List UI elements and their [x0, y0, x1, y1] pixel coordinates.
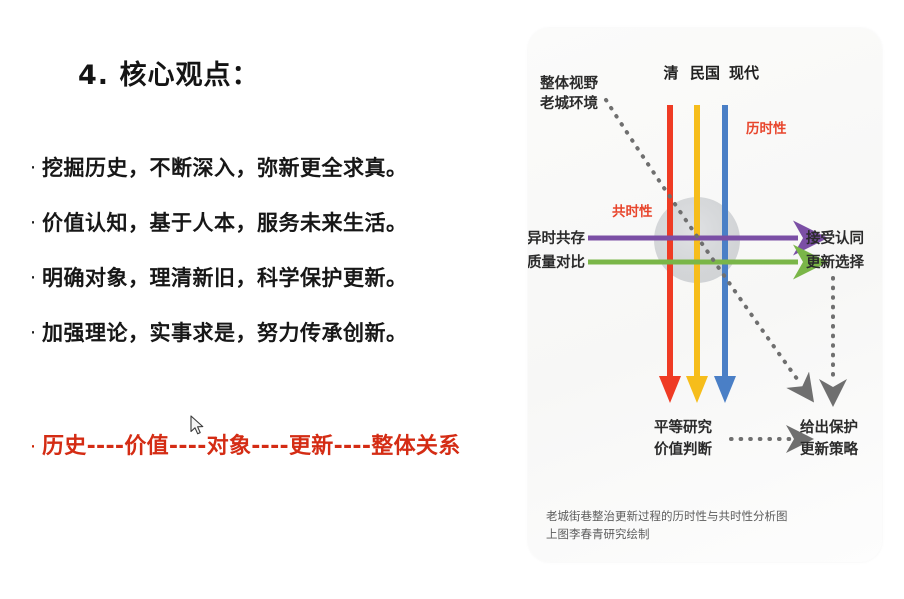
list-item-label: 挖掘历史，不断深入，弥新更全求真。 [42, 153, 408, 183]
era-label-qing: 清 [663, 64, 678, 82]
timeline-arrowhead-qing [659, 376, 681, 403]
list-item: · 挖掘历史，不断深入，弥新更全求真。 [24, 153, 524, 183]
bullet-marker-icon: · [24, 208, 42, 238]
timeline-arrowhead-xiandai [714, 376, 736, 403]
axis-label-synchronic: 共时性 [612, 203, 653, 220]
bullet-marker-icon: · [24, 153, 42, 183]
label-coexistence-line1: 异时共存 [528, 229, 585, 247]
list-item: · 价值认知，基于人本，服务未来生活。 [24, 208, 524, 238]
label-accept-identify-line1: 接受认同 [806, 229, 864, 247]
label-overall-vision-line2: 老城环境 [539, 94, 598, 112]
timeline-arrowhead-minguo [686, 376, 708, 403]
era-label-minguo: 民国 [690, 64, 720, 82]
diagram-figure: 清 民国 现代 历时性 共时性 整体视野 老城环境 异时共存 质量对比 接受认同 [528, 28, 882, 562]
diagram-caption-line2: 上图李春青研究绘制 [546, 527, 650, 541]
label-update-choice-line2: 更新选择 [806, 253, 864, 271]
label-value-judgment-line2: 价值判断 [654, 440, 712, 458]
era-label-xiandai: 现代 [729, 64, 759, 82]
label-coexistence-line2: 质量对比 [528, 253, 585, 271]
axis-label-diachronic: 历时性 [746, 120, 787, 137]
label-update-strategy-line2: 更新策略 [800, 440, 858, 458]
label-protection-strategy-line1: 给出保护 [800, 418, 858, 436]
bullet-marker-icon: · [24, 318, 42, 348]
list-item-label: 价值认知，基于人本，服务未来生活。 [42, 208, 408, 238]
bullet-marker-icon: · [24, 432, 42, 462]
label-equal-research-line1: 平等研究 [654, 418, 712, 436]
diagram-panel: 清 民国 现代 历时性 共时性 整体视野 老城环境 异时共存 质量对比 接受认同 [528, 28, 882, 562]
list-item-label: 明确对象，理清新旧，科学保护更新。 [42, 263, 408, 293]
bullet-marker-icon: · [24, 263, 42, 293]
summary-list-item-label: 历史----价值----对象----更新----整体关系 [42, 432, 461, 462]
summary-list-item: · 历史----价值----对象----更新----整体关系 [24, 432, 524, 462]
page-title: 4. 核心观点： [78, 53, 259, 92]
list-item: · 加强理论，实事求是，努力传承创新。 [24, 318, 524, 348]
label-overall-vision-line1: 整体视野 [540, 74, 598, 92]
slide-text-column: 4. 核心观点： · 挖掘历史，不断深入，弥新更全求真。 · 价值认知，基于人本… [0, 0, 520, 599]
list-item: · 明确对象，理清新旧，科学保护更新。 [24, 263, 524, 293]
list-item-label: 加强理论，实事求是，努力传承创新。 [42, 318, 408, 348]
diagram-caption-line1: 老城街巷整治更新过程的历时性与共时性分析图 [546, 509, 788, 523]
